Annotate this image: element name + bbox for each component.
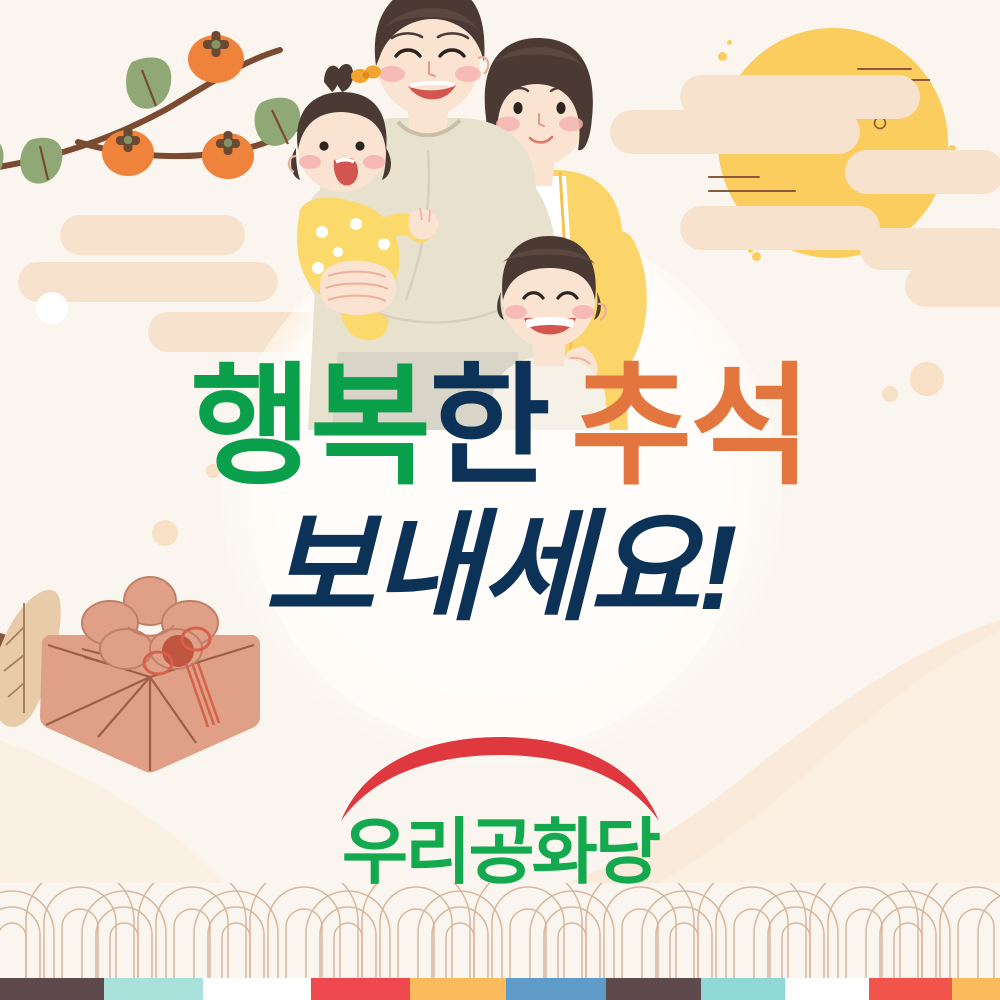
stripe-orange [410, 978, 506, 1000]
stripe-red-2 [869, 978, 953, 1000]
persimmon-fruit-1 [185, 23, 247, 90]
stripe-brown [0, 978, 104, 1000]
stripe-white [203, 978, 311, 1000]
stripe-orange-2 [952, 978, 1000, 1000]
baby-hair-bow [351, 66, 381, 84]
persimmon-leaf-1 [126, 57, 171, 108]
stripe-red [311, 978, 411, 1000]
persimmon-fruit-2 [100, 120, 156, 183]
headline-line-2: 보내세요! [0, 505, 1000, 631]
headline-word-haengbok: 행복 [190, 353, 429, 500]
bottom-color-stripe-band [0, 978, 1000, 1000]
stripe-mint-2 [701, 978, 785, 1000]
headline-line-1: 행복한추석 [0, 360, 1000, 495]
persimmon-fruit-3 [200, 123, 256, 186]
chuseok-greeting-card: 행복한추석 보내세요! 우리공화당 [0, 0, 1000, 1000]
headline-word-chuseok: 추석 [571, 353, 810, 500]
party-logo[interactable]: 우리공화당 [0, 735, 1000, 889]
stripe-blue [506, 978, 606, 1000]
stripe-white-2 [785, 978, 869, 1000]
wave-pattern-svg [0, 883, 1000, 978]
logo-text: 우리공화당 [0, 817, 1000, 889]
wave-pattern-band [0, 883, 1000, 978]
stripe-mint [104, 978, 204, 1000]
headline-word-han: 한 [429, 353, 548, 500]
headline-block: 행복한추석 보내세요! [0, 360, 1000, 631]
persimmon-leaf-2 [20, 138, 62, 184]
father-hand-holding-baby [320, 261, 396, 316]
logo-red-arc [335, 735, 665, 823]
persimmon-leaf-3 [0, 137, 4, 182]
stripe-brown-2 [606, 978, 702, 1000]
